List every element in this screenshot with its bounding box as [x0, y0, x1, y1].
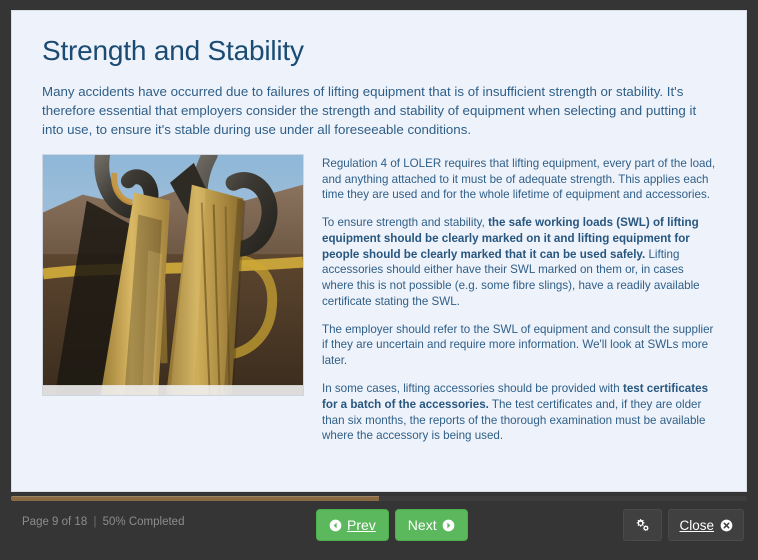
- next-button[interactable]: Next: [395, 509, 468, 541]
- chevron-circle-left-icon: [329, 519, 342, 532]
- next-button-label: Next: [408, 517, 437, 533]
- settings-button[interactable]: [623, 509, 662, 541]
- body-paragraph-3: The employer should refer to the SWL of …: [322, 322, 718, 369]
- status-text: Page 9 of 18 | 50% Completed: [22, 516, 184, 528]
- prev-button[interactable]: Prev: [316, 509, 389, 541]
- player-toolbar: Page 9 of 18 | 50% Completed Prev Next: [0, 504, 758, 560]
- progress-percent-label: 50% Completed: [103, 516, 185, 528]
- close-button-label: Close: [679, 518, 714, 533]
- slide-panel: Strength and Stability Many accidents ha…: [11, 10, 747, 492]
- cogs-icon: [634, 518, 651, 533]
- text-column: Regulation 4 of LOLER requires that lift…: [322, 154, 718, 444]
- close-button[interactable]: Close: [668, 509, 744, 541]
- progress-bar-fill: [11, 496, 379, 501]
- times-circle-icon: [720, 519, 733, 532]
- slide-intro-paragraph: Many accidents have occurred due to fail…: [42, 83, 718, 140]
- course-player: Strength and Stability Many accidents ha…: [0, 0, 758, 560]
- chevron-circle-right-icon: [442, 519, 455, 532]
- slide-body: Regulation 4 of LOLER requires that lift…: [42, 154, 718, 444]
- slide-photo: [42, 154, 304, 396]
- media-column: [42, 154, 304, 396]
- slide-content: Strength and Stability Many accidents ha…: [12, 11, 746, 444]
- status-separator: |: [90, 516, 99, 528]
- progress-bar-track[interactable]: [11, 496, 747, 501]
- body-paragraph-2: To ensure strength and stability, the sa…: [322, 215, 718, 310]
- navigation-buttons: Prev Next: [316, 509, 468, 541]
- utility-buttons: Close: [623, 509, 744, 541]
- page-title: Strength and Stability: [42, 35, 718, 67]
- page-counter-label: Page 9 of 18: [22, 516, 87, 528]
- lifting-slings-photo-illustration: [43, 155, 303, 395]
- body-paragraph-4: In some cases, lifting accessories shoul…: [322, 381, 718, 444]
- body-paragraph-1: Regulation 4 of LOLER requires that lift…: [322, 156, 718, 203]
- prev-button-label: Prev: [347, 517, 376, 533]
